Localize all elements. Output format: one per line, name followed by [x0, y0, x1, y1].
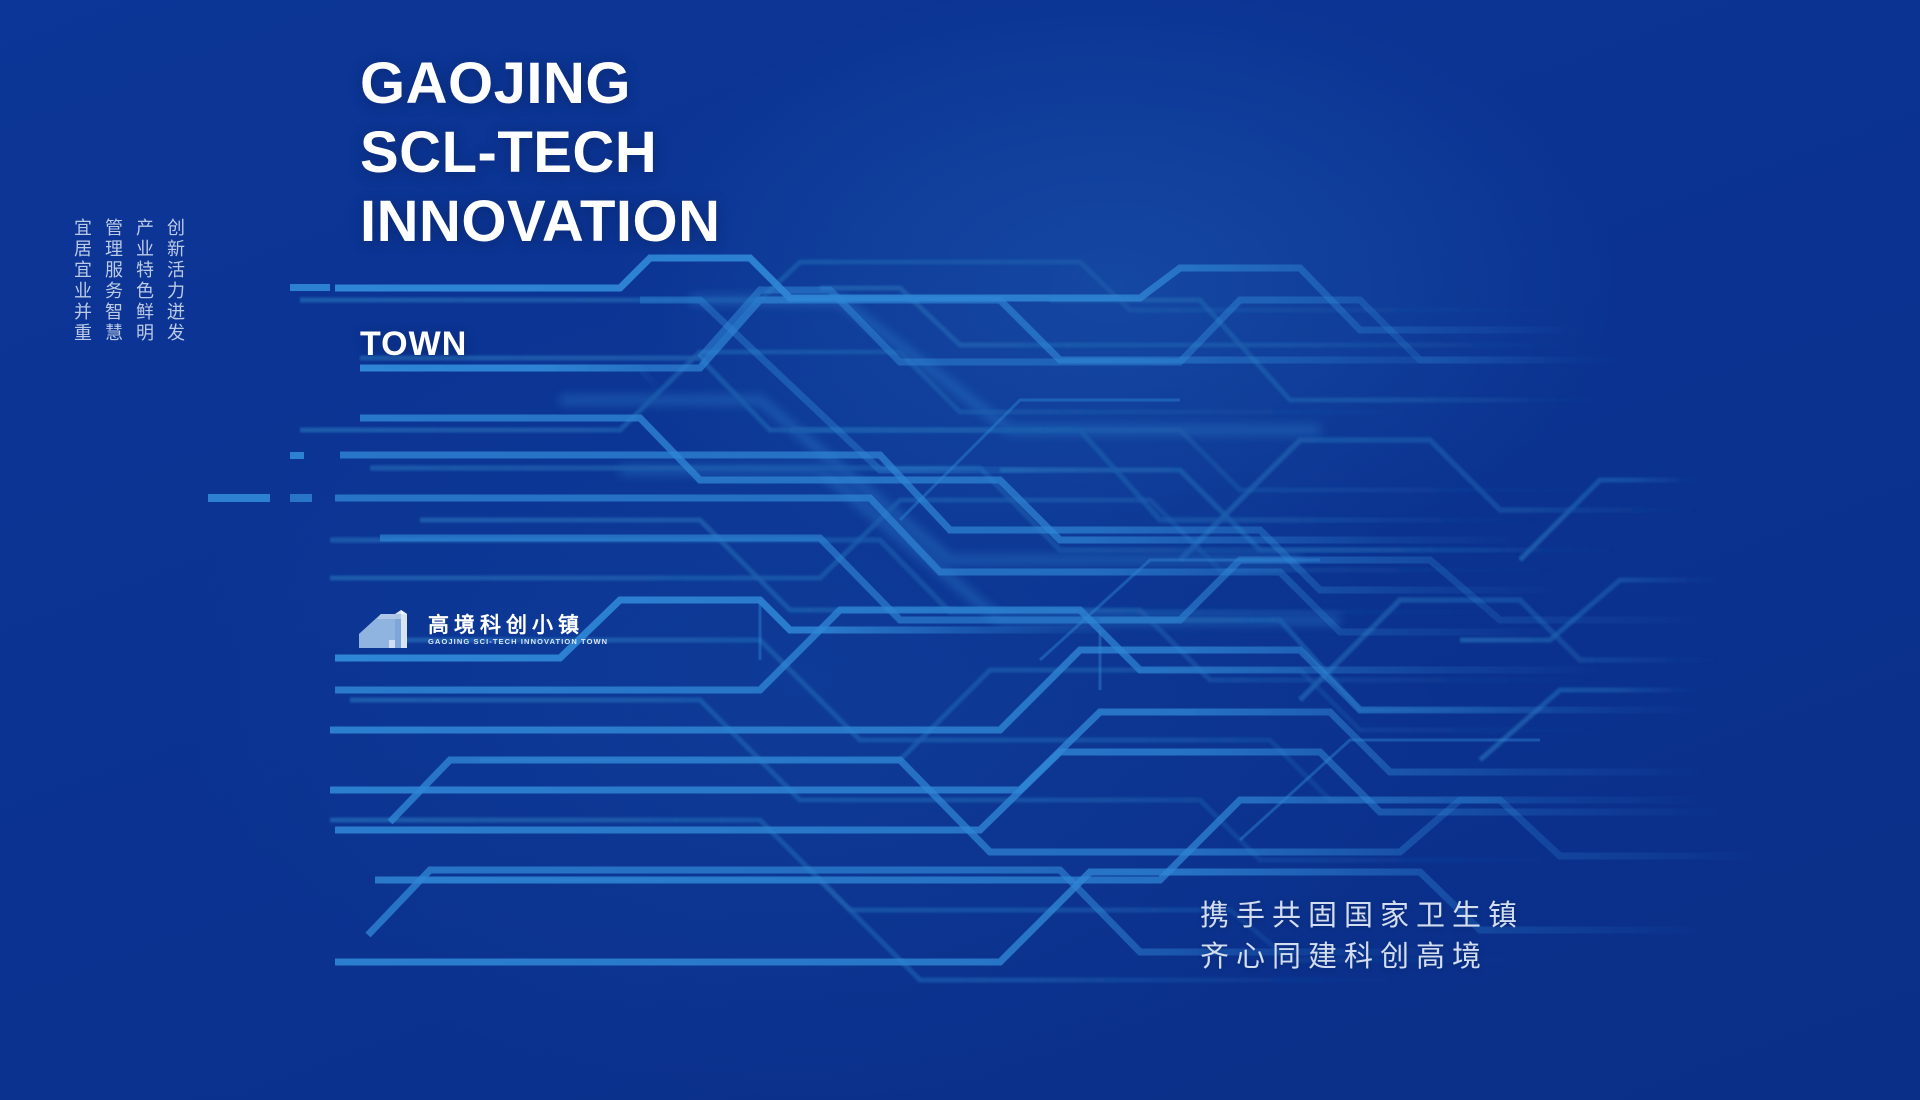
bottom-slogan: 携手共固国家卫生镇 齐心同建科创高境 [1200, 895, 1524, 977]
vertical-slogan-column-3: 管理服务智慧 [103, 218, 121, 408]
vertical-slogan: 创新活力迸发 产业特色鲜明 管理服务智慧 宜居宜业并重 [72, 218, 183, 408]
brand-name-en: GAOJING SCI-TECH INNOVATION TOWN [428, 638, 608, 646]
poster-headline: GAOJING SCL-TECH INNOVATION [360, 55, 721, 262]
headline-subline-town: TOWN [360, 325, 467, 364]
headline-line-1: GAOJING [360, 55, 721, 113]
brand-name-cn: 高境科创小镇 [428, 615, 608, 636]
brand-logo: 高境科创小镇 GAOJING SCI-TECH INNOVATION TOWN [355, 608, 608, 652]
vertical-slogan-column-2: 产业特色鲜明 [134, 218, 152, 408]
bottom-slogan-line-2: 齐心同建科创高境 [1200, 936, 1524, 977]
bottom-slogan-line-1: 携手共固国家卫生镇 [1200, 895, 1524, 936]
poster-canvas: 创新活力迸发 产业特色鲜明 管理服务智慧 宜居宜业并重 GAOJING SCL-… [0, 0, 1920, 1100]
brand-logo-text: 高境科创小镇 GAOJING SCI-TECH INNOVATION TOWN [428, 615, 608, 646]
vertical-slogan-column-4: 宜居宜业并重 [72, 218, 90, 408]
headline-line-2: SCL-TECH [360, 124, 721, 182]
circuit-line-artwork [0, 0, 1920, 1100]
vertical-slogan-column-1: 创新活力迸发 [165, 218, 183, 408]
headline-line-3: INNOVATION [360, 193, 721, 251]
house-building-icon [355, 608, 417, 652]
